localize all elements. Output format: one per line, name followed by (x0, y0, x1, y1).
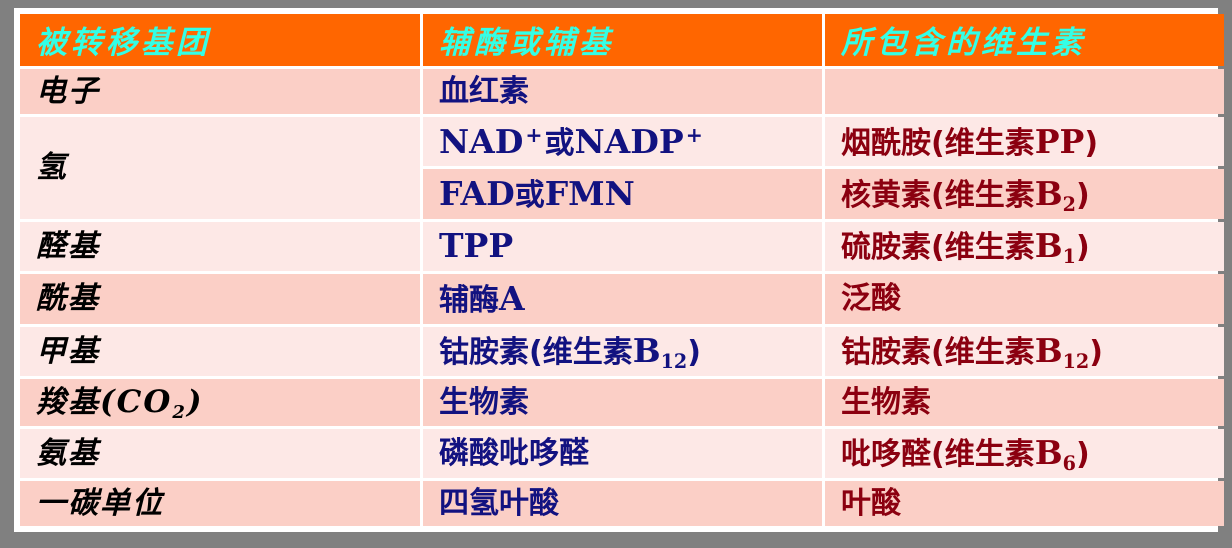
cell-group: 氨基 (20, 429, 420, 478)
table-row: 氢 NAD+或NADP+ 烟酰胺(维生素PP) (20, 117, 1224, 166)
table-row: 甲基 钴胺素(维生素B12) 钴胺素(维生素B12) (20, 327, 1224, 376)
cell-vitamin (825, 69, 1224, 114)
cell-coenzyme: 血红素 (423, 69, 822, 114)
cell-coenzyme: FAD或FMN (423, 169, 822, 218)
cell-coenzyme: TPP (423, 222, 822, 271)
table-body: 电子 血红素 氢 NAD+或NADP+ 烟酰胺(维生素PP) FAD或FMN 核… (20, 69, 1224, 526)
cell-group: 氢 (20, 117, 420, 219)
cell-group: 酰基 (20, 274, 420, 323)
cell-coenzyme: 钴胺素(维生素B12) (423, 327, 822, 376)
table-row: 电子 血红素 (20, 69, 1224, 114)
cell-coenzyme: 四氢叶酸 (423, 481, 822, 526)
cell-vitamin: 核黄素(维生素B2) (825, 169, 1224, 218)
table-row: 氨基 磷酸吡哆醛 吡哆醛(维生素B6) (20, 429, 1224, 478)
table-row: 羧基(CO2) 生物素 生物素 (20, 379, 1224, 425)
table-row: 一碳单位 四氢叶酸 叶酸 (20, 481, 1224, 526)
cell-group: 电子 (20, 69, 420, 114)
cell-group: 羧基(CO2) (20, 379, 420, 425)
table-row: 醛基 TPP 硫胺素(维生素B1) (20, 222, 1224, 271)
table-header: 被转移基团 辅酶或辅基 所包含的维生素 (20, 14, 1224, 66)
cell-vitamin: 生物素 (825, 379, 1224, 425)
cell-vitamin: 钴胺素(维生素B12) (825, 327, 1224, 376)
cell-vitamin: 叶酸 (825, 481, 1224, 526)
cell-coenzyme: NAD+或NADP+ (423, 117, 822, 166)
cell-coenzyme: 磷酸吡哆醛 (423, 429, 822, 478)
cell-coenzyme: 生物素 (423, 379, 822, 425)
cell-group: 一碳单位 (20, 481, 420, 526)
header-cell-vitamin: 所包含的维生素 (825, 14, 1224, 66)
cell-vitamin: 烟酰胺(维生素PP) (825, 117, 1224, 166)
cell-vitamin: 硫胺素(维生素B1) (825, 222, 1224, 271)
cofactor-table: 被转移基团 辅酶或辅基 所包含的维生素 电子 血红素 氢 NAD+或NADP+ … (17, 11, 1227, 529)
header-cell-coenzyme: 辅酶或辅基 (423, 14, 822, 66)
cell-coenzyme: 辅酶A (423, 274, 822, 323)
header-cell-transferred-group: 被转移基团 (20, 14, 420, 66)
cell-group: 醛基 (20, 222, 420, 271)
cell-group: 甲基 (20, 327, 420, 376)
table-frame: 被转移基团 辅酶或辅基 所包含的维生素 电子 血红素 氢 NAD+或NADP+ … (14, 8, 1218, 532)
cell-vitamin: 吡哆醛(维生素B6) (825, 429, 1224, 478)
header-row: 被转移基团 辅酶或辅基 所包含的维生素 (20, 14, 1224, 66)
cell-vitamin: 泛酸 (825, 274, 1224, 323)
table-row: 酰基 辅酶A 泛酸 (20, 274, 1224, 323)
